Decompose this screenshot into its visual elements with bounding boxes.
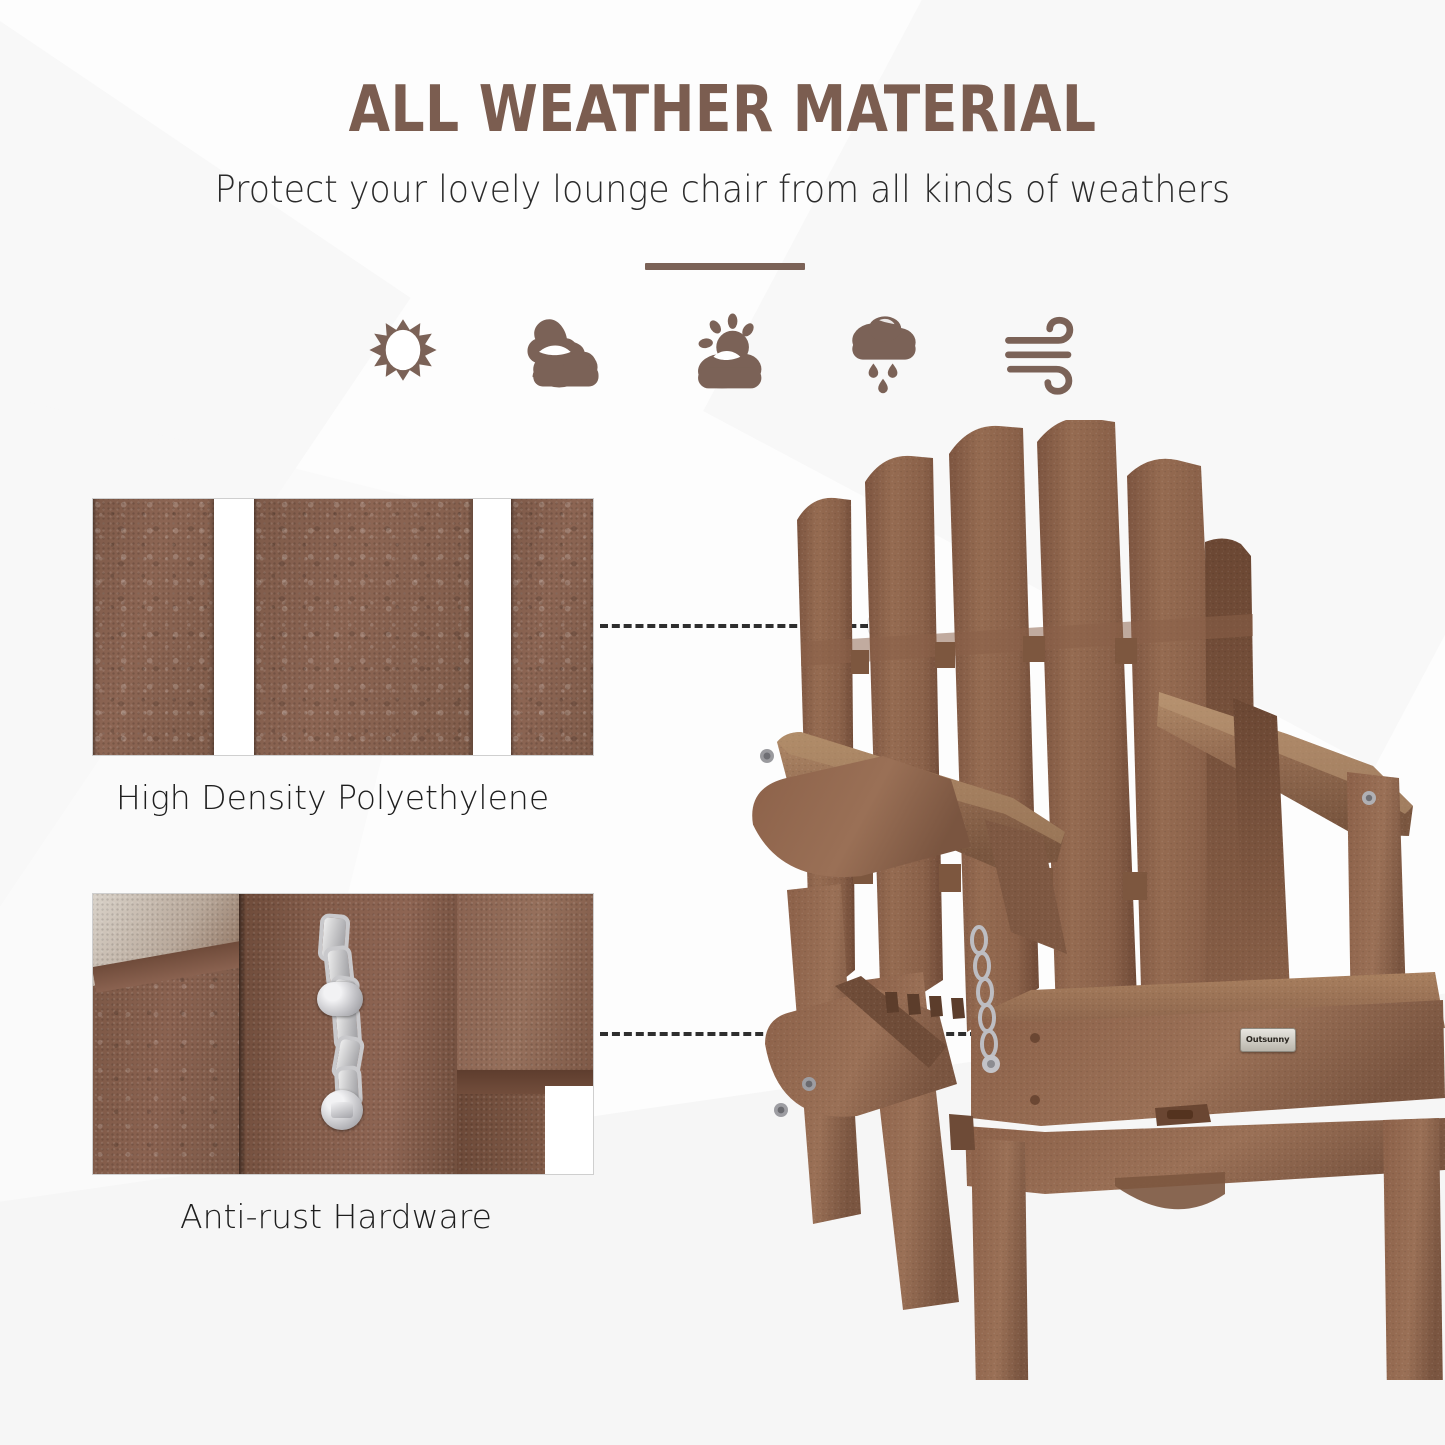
hardware-closeup-photo <box>92 893 594 1175</box>
page-title: ALL WEATHER MATERIAL <box>51 0 1395 142</box>
brand-badge: Outsunny <box>1240 1028 1296 1052</box>
detail-card-hardware: Anti-rust Hardware <box>92 893 594 1236</box>
page-subtitle: Protect your lovely lounge chair from al… <box>43 142 1401 211</box>
hdpe-caption: High Density Polyethylene <box>92 778 594 817</box>
hdpe-closeup-photo <box>92 498 594 756</box>
rain-cloud-icon <box>833 300 933 400</box>
cloud-icon <box>513 300 613 400</box>
weather-icon-row <box>0 300 1445 400</box>
title-divider <box>645 263 805 270</box>
detail-card-hdpe: High Density Polyethylene <box>92 498 594 817</box>
sun-icon <box>353 300 453 400</box>
wind-icon <box>993 300 1093 400</box>
brand-badge-label: Outsunny <box>1246 1035 1289 1044</box>
infographic-canvas: ALL WEATHER MATERIAL Protect your lovely… <box>0 0 1445 1445</box>
hardware-caption: Anti-rust Hardware <box>92 1197 594 1236</box>
product-image-adirondack-chair <box>735 420 1445 1380</box>
partly-cloudy-icon <box>673 300 773 400</box>
header-block: ALL WEATHER MATERIAL Protect your lovely… <box>0 0 1445 211</box>
bolt-upper <box>317 982 363 1016</box>
